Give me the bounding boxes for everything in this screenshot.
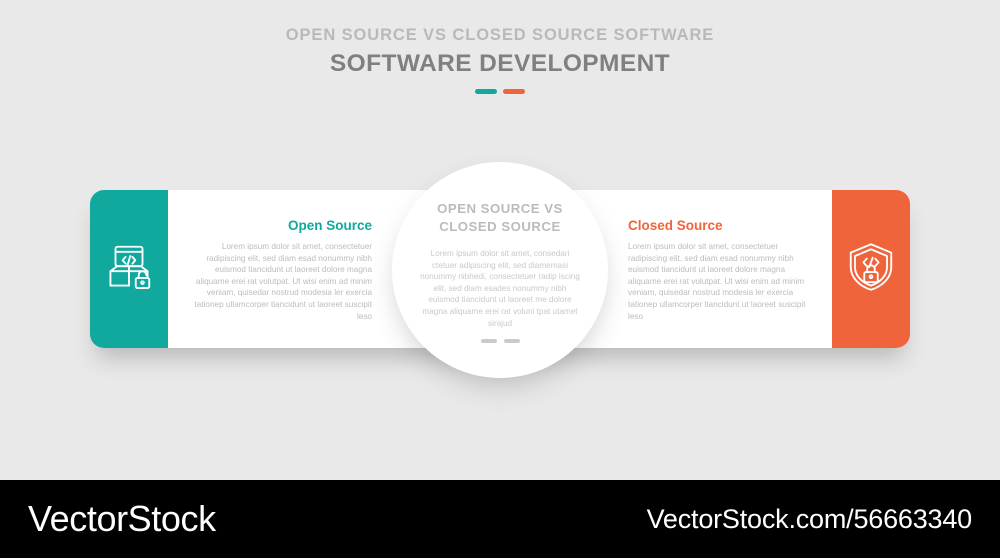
center-circle: OPEN SOURCE VS CLOSED SOURCE Lorem ipsum… xyxy=(392,162,608,378)
watermark-url: VectorStock.com/56663340 xyxy=(647,504,972,535)
center-title-line2: CLOSED SOURCE xyxy=(439,219,561,234)
center-title-line1: OPEN SOURCE VS xyxy=(437,201,563,216)
right-icon-block xyxy=(832,190,910,348)
infographic-canvas: OPEN SOURCE VS CLOSED SOURCE SOFTWARE SO… xyxy=(0,0,1000,558)
left-panel-body: Lorem ipsum dolor sit amet, consectetuer… xyxy=(188,241,372,322)
center-dash-1 xyxy=(481,339,497,343)
page-title: SOFTWARE DEVELOPMENT xyxy=(0,49,1000,79)
accent-bars xyxy=(0,89,1000,94)
center-title: OPEN SOURCE VS CLOSED SOURCE xyxy=(418,200,582,236)
center-dash-2 xyxy=(504,339,520,343)
right-panel-body: Lorem ipsum dolor sit amet, consectetuer… xyxy=(628,241,812,322)
left-panel-title: Open Source xyxy=(188,218,372,234)
right-panel-title: Closed Source xyxy=(628,218,812,234)
center-dashes xyxy=(418,339,582,343)
watermark-bar: VectorStock VectorStock.com/56663340 xyxy=(0,480,1000,558)
watermark-brand: VectorStock xyxy=(28,498,216,540)
center-body: Lorem ipsum dolor sit amet, consedari ct… xyxy=(418,248,582,329)
open-box-code-unlocked-padlock-icon xyxy=(102,240,156,299)
accent-bar-teal xyxy=(475,89,497,94)
left-icon-block xyxy=(90,190,168,348)
header-subtitle: OPEN SOURCE VS CLOSED SOURCE SOFTWARE xyxy=(0,24,1000,46)
accent-bar-orange xyxy=(503,89,525,94)
shield-code-locked-padlock-icon xyxy=(844,240,898,299)
header: OPEN SOURCE VS CLOSED SOURCE SOFTWARE SO… xyxy=(0,24,1000,94)
